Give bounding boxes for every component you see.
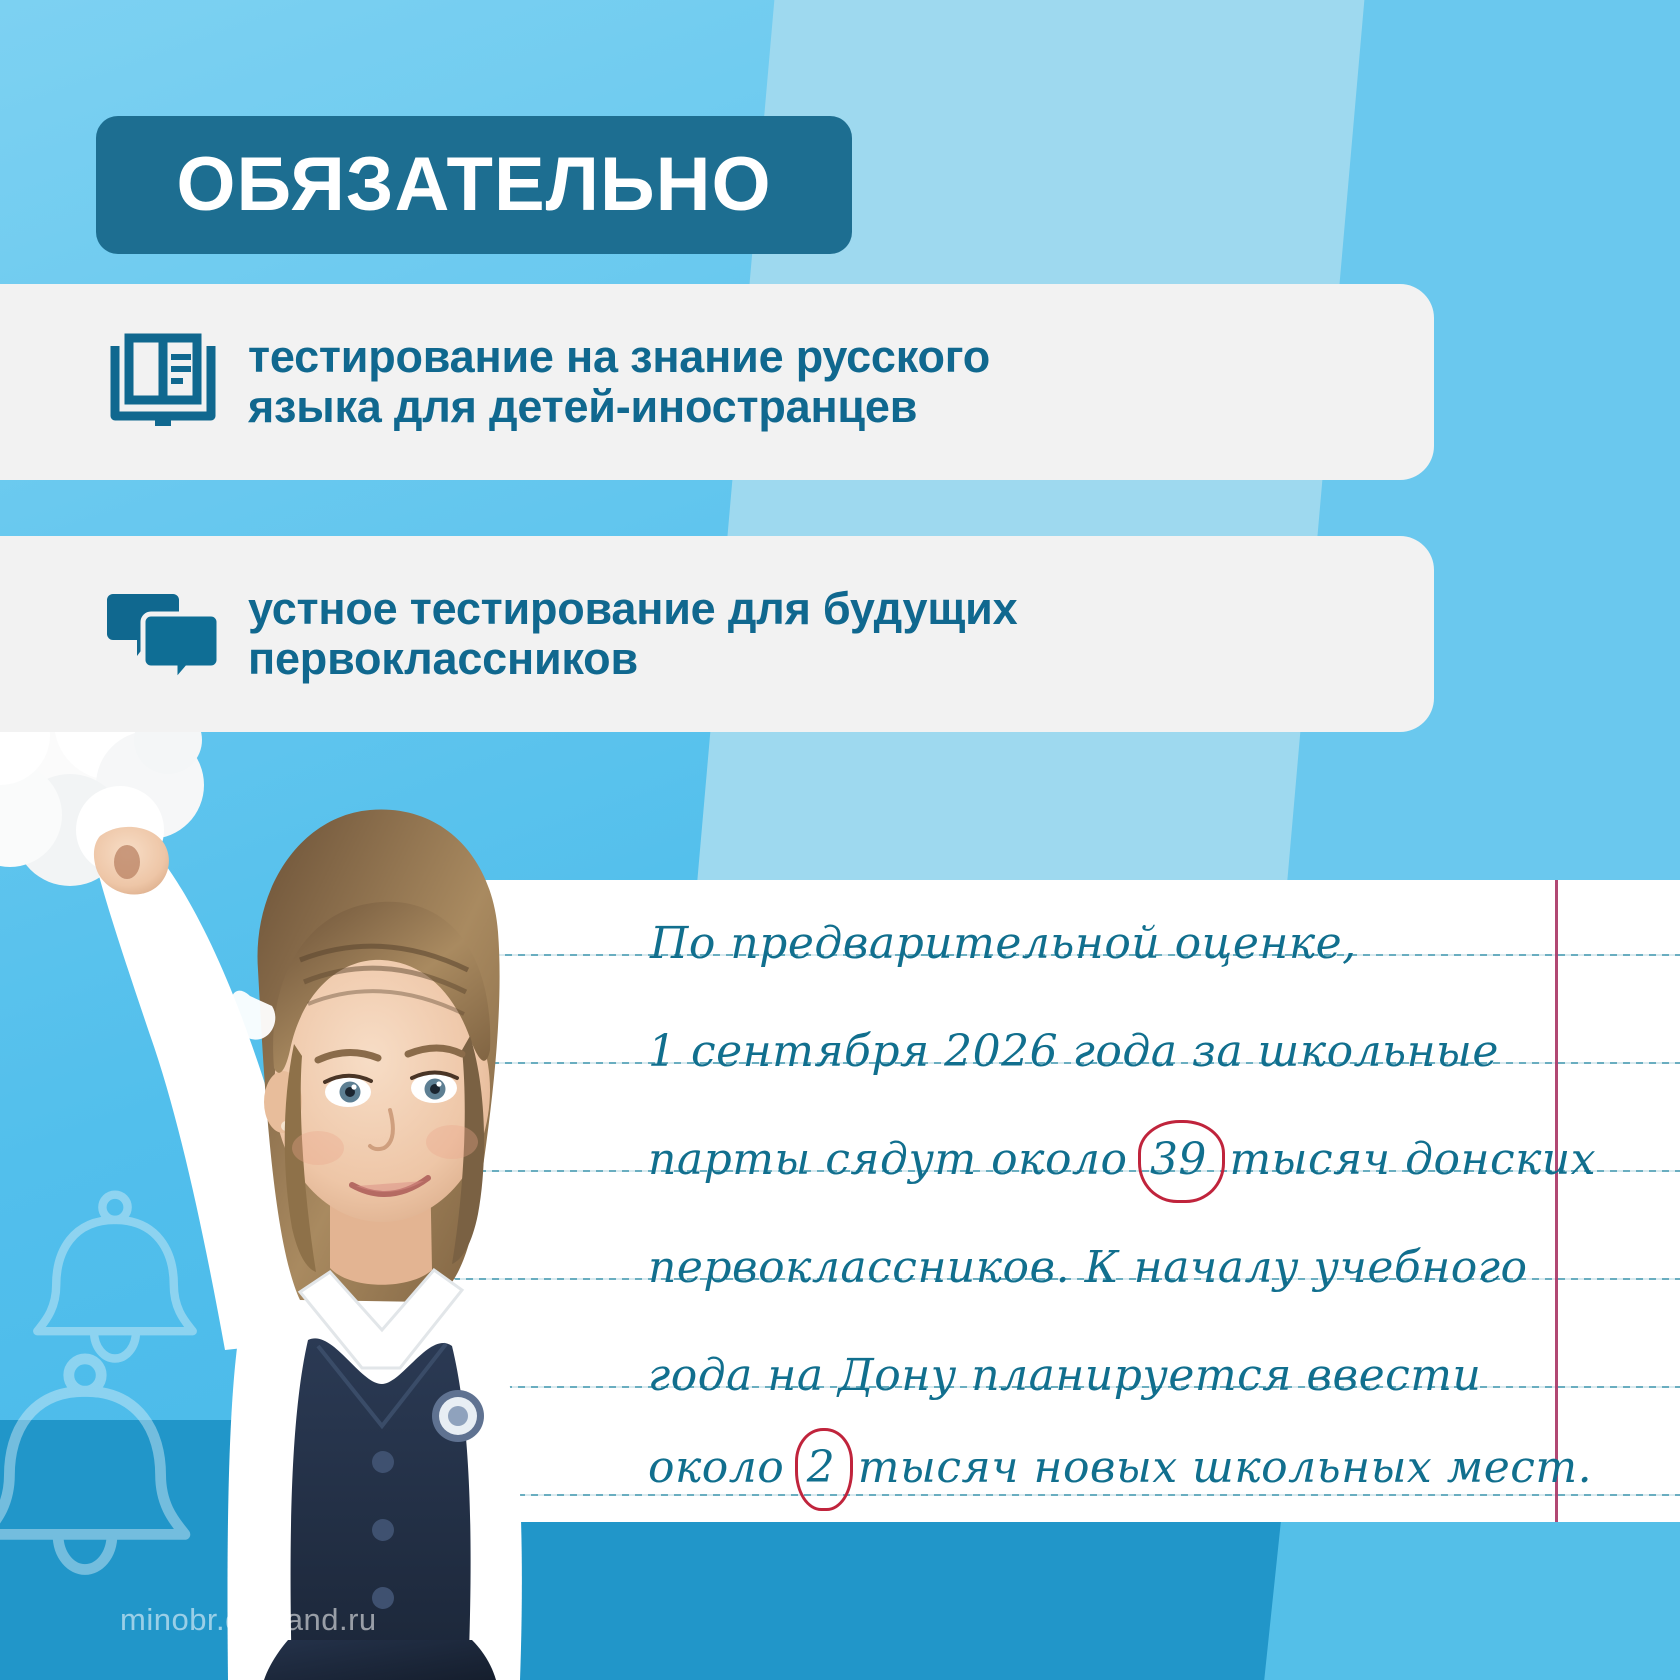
paper-margin-line <box>1555 880 1558 1522</box>
card2-line2: первоклассников <box>248 634 1017 684</box>
card1-line2: языка для детей-иностранцев <box>248 382 990 432</box>
requirement-card-testing: тестирование на знание русского языка дл… <box>0 284 1434 480</box>
page-title: ОБЯЗАТЕЛЬНО <box>176 147 771 223</box>
site-watermark: minobr.donland.ru <box>120 1602 377 1638</box>
card2-line1: устное тестирование для будущих <box>248 584 1017 634</box>
open-book-icon <box>100 332 226 432</box>
card1-line1: тестирование на знание русского <box>248 332 990 382</box>
page-title-badge: ОБЯЗАТЕЛЬНО <box>96 116 852 254</box>
speech-bubbles-icon <box>100 586 226 682</box>
requirement-card-text: устное тестирование для будущих первокла… <box>226 584 1037 685</box>
requirement-card-text: тестирование на знание русского языка дл… <box>226 332 1010 433</box>
schoolgirl-photo <box>0 640 660 1680</box>
requirement-card-oral-testing: устное тестирование для будущих первокла… <box>0 536 1434 732</box>
